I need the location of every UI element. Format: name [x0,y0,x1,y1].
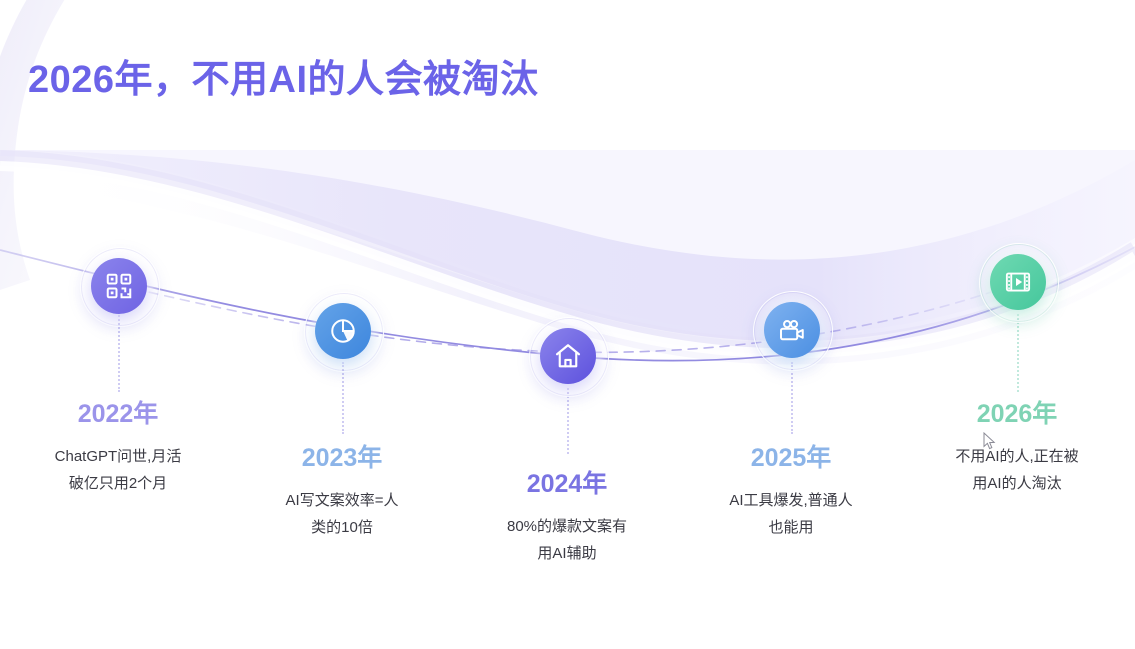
node-year-label: 2025年 [691,438,891,474]
node-description: AI工具爆发,普通人 也能用 [691,487,891,541]
node-stem [567,388,571,454]
node-year-label: 2022年 [18,394,218,430]
node-year-label: 2023年 [242,438,442,474]
node-circle[interactable] [315,303,371,359]
node-description-line: 用AI辅助 [467,540,667,567]
node-description-line: 破亿只用2个月 [18,470,218,497]
node-description: 80%的爆款文案有 用AI辅助 [467,513,667,567]
node-description-line: 80%的爆款文案有 [467,513,667,540]
node-description-line: 类的10倍 [242,514,442,541]
node-circle[interactable] [91,258,147,314]
mouse-pointer-icon [983,432,996,451]
node-description-line: AI写文案效率=人 [242,487,442,514]
home-icon [553,341,583,371]
node-description-line: 不用AI的人,正在被 [917,443,1117,470]
node-description: AI写文案效率=人 类的10倍 [242,487,442,541]
node-year-label: 2024年 [467,464,667,500]
node-circle[interactable] [764,302,820,358]
node-description-line: 也能用 [691,514,891,541]
node-description-line: 用AI的人淘汰 [917,470,1117,497]
node-description-line: ChatGPT问世,月活 [18,443,218,470]
node-year-label: 2026年 [917,394,1117,430]
node-description: 不用AI的人,正在被 用AI的人淘汰 [917,443,1117,497]
video-camera-icon [777,315,807,345]
film-play-icon [1003,267,1033,297]
qr-code-icon [104,271,134,301]
slide-canvas: 2026年，不用AI的人会被淘汰 2022年 ChatGPT问世,月活 破亿只用… [0,0,1135,649]
node-description-line: AI工具爆发,普通人 [691,487,891,514]
pie-chart-icon [328,316,358,346]
page-title: 2026年，不用AI的人会被淘汰 [28,48,539,103]
node-description: ChatGPT问世,月活 破亿只用2个月 [18,443,218,497]
node-stem [342,362,346,434]
node-circle[interactable] [540,328,596,384]
node-stem [791,362,795,434]
node-circle[interactable] [990,254,1046,310]
node-stem [1017,314,1021,392]
